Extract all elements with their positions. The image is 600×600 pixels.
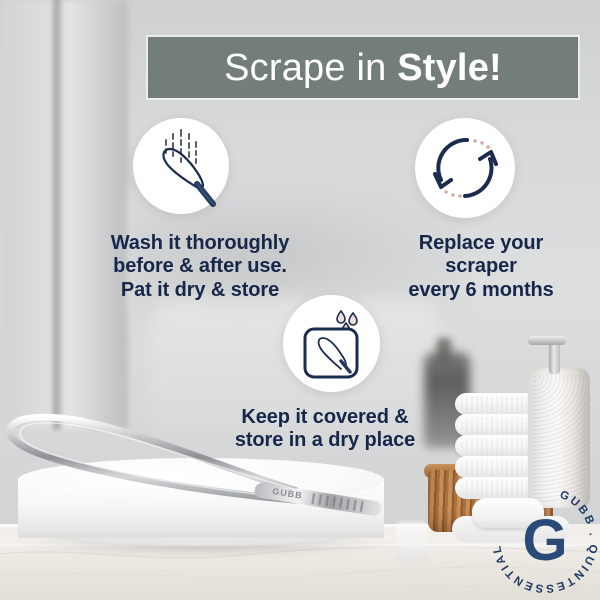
tip-2-line-2: scraper — [366, 255, 596, 278]
tip-3-line-2: store in a dry place — [200, 429, 450, 452]
brand-watermark: GUBB . QUINTESSENTIAL CARE G — [487, 482, 600, 598]
tip-3-line-1: Keep it covered & — [200, 406, 450, 429]
tip-1-line-2: before & after use. — [60, 255, 340, 278]
headline-banner: Scrape in Style! — [148, 37, 578, 98]
headline-text: Scrape in Style! — [224, 49, 502, 87]
tongue-scraper-washing-icon — [133, 118, 229, 214]
circular-arrows-replace-icon — [415, 118, 515, 218]
tip-2-caption: Replace your scraper every 6 months — [366, 232, 596, 302]
tip-3-icon-circle — [283, 295, 380, 392]
headline-light: Scrape in — [224, 47, 397, 89]
tip-2-line-1: Replace your — [366, 232, 596, 255]
headline-bold: Style! — [397, 47, 502, 89]
tip-1-icon-circle — [133, 118, 229, 214]
scraper-in-case-icon — [283, 295, 380, 392]
blurred-glass — [396, 522, 428, 562]
tip-2-line-3: every 6 months — [366, 279, 596, 302]
soap-pump-nozzle — [528, 336, 566, 345]
tip-3-caption: Keep it covered & store in a dry place — [200, 406, 450, 453]
wall-panel — [0, 0, 128, 430]
tip-1-line-1: Wash it thoroughly — [60, 232, 340, 255]
tip-2-icon-circle — [415, 118, 515, 218]
infographic-canvas: GUBB Scrape in Style! — [0, 0, 600, 600]
door-edge — [52, 0, 62, 430]
tip-1-caption: Wash it thoroughly before & after use. P… — [60, 232, 340, 302]
watermark-monogram: G — [487, 482, 600, 598]
